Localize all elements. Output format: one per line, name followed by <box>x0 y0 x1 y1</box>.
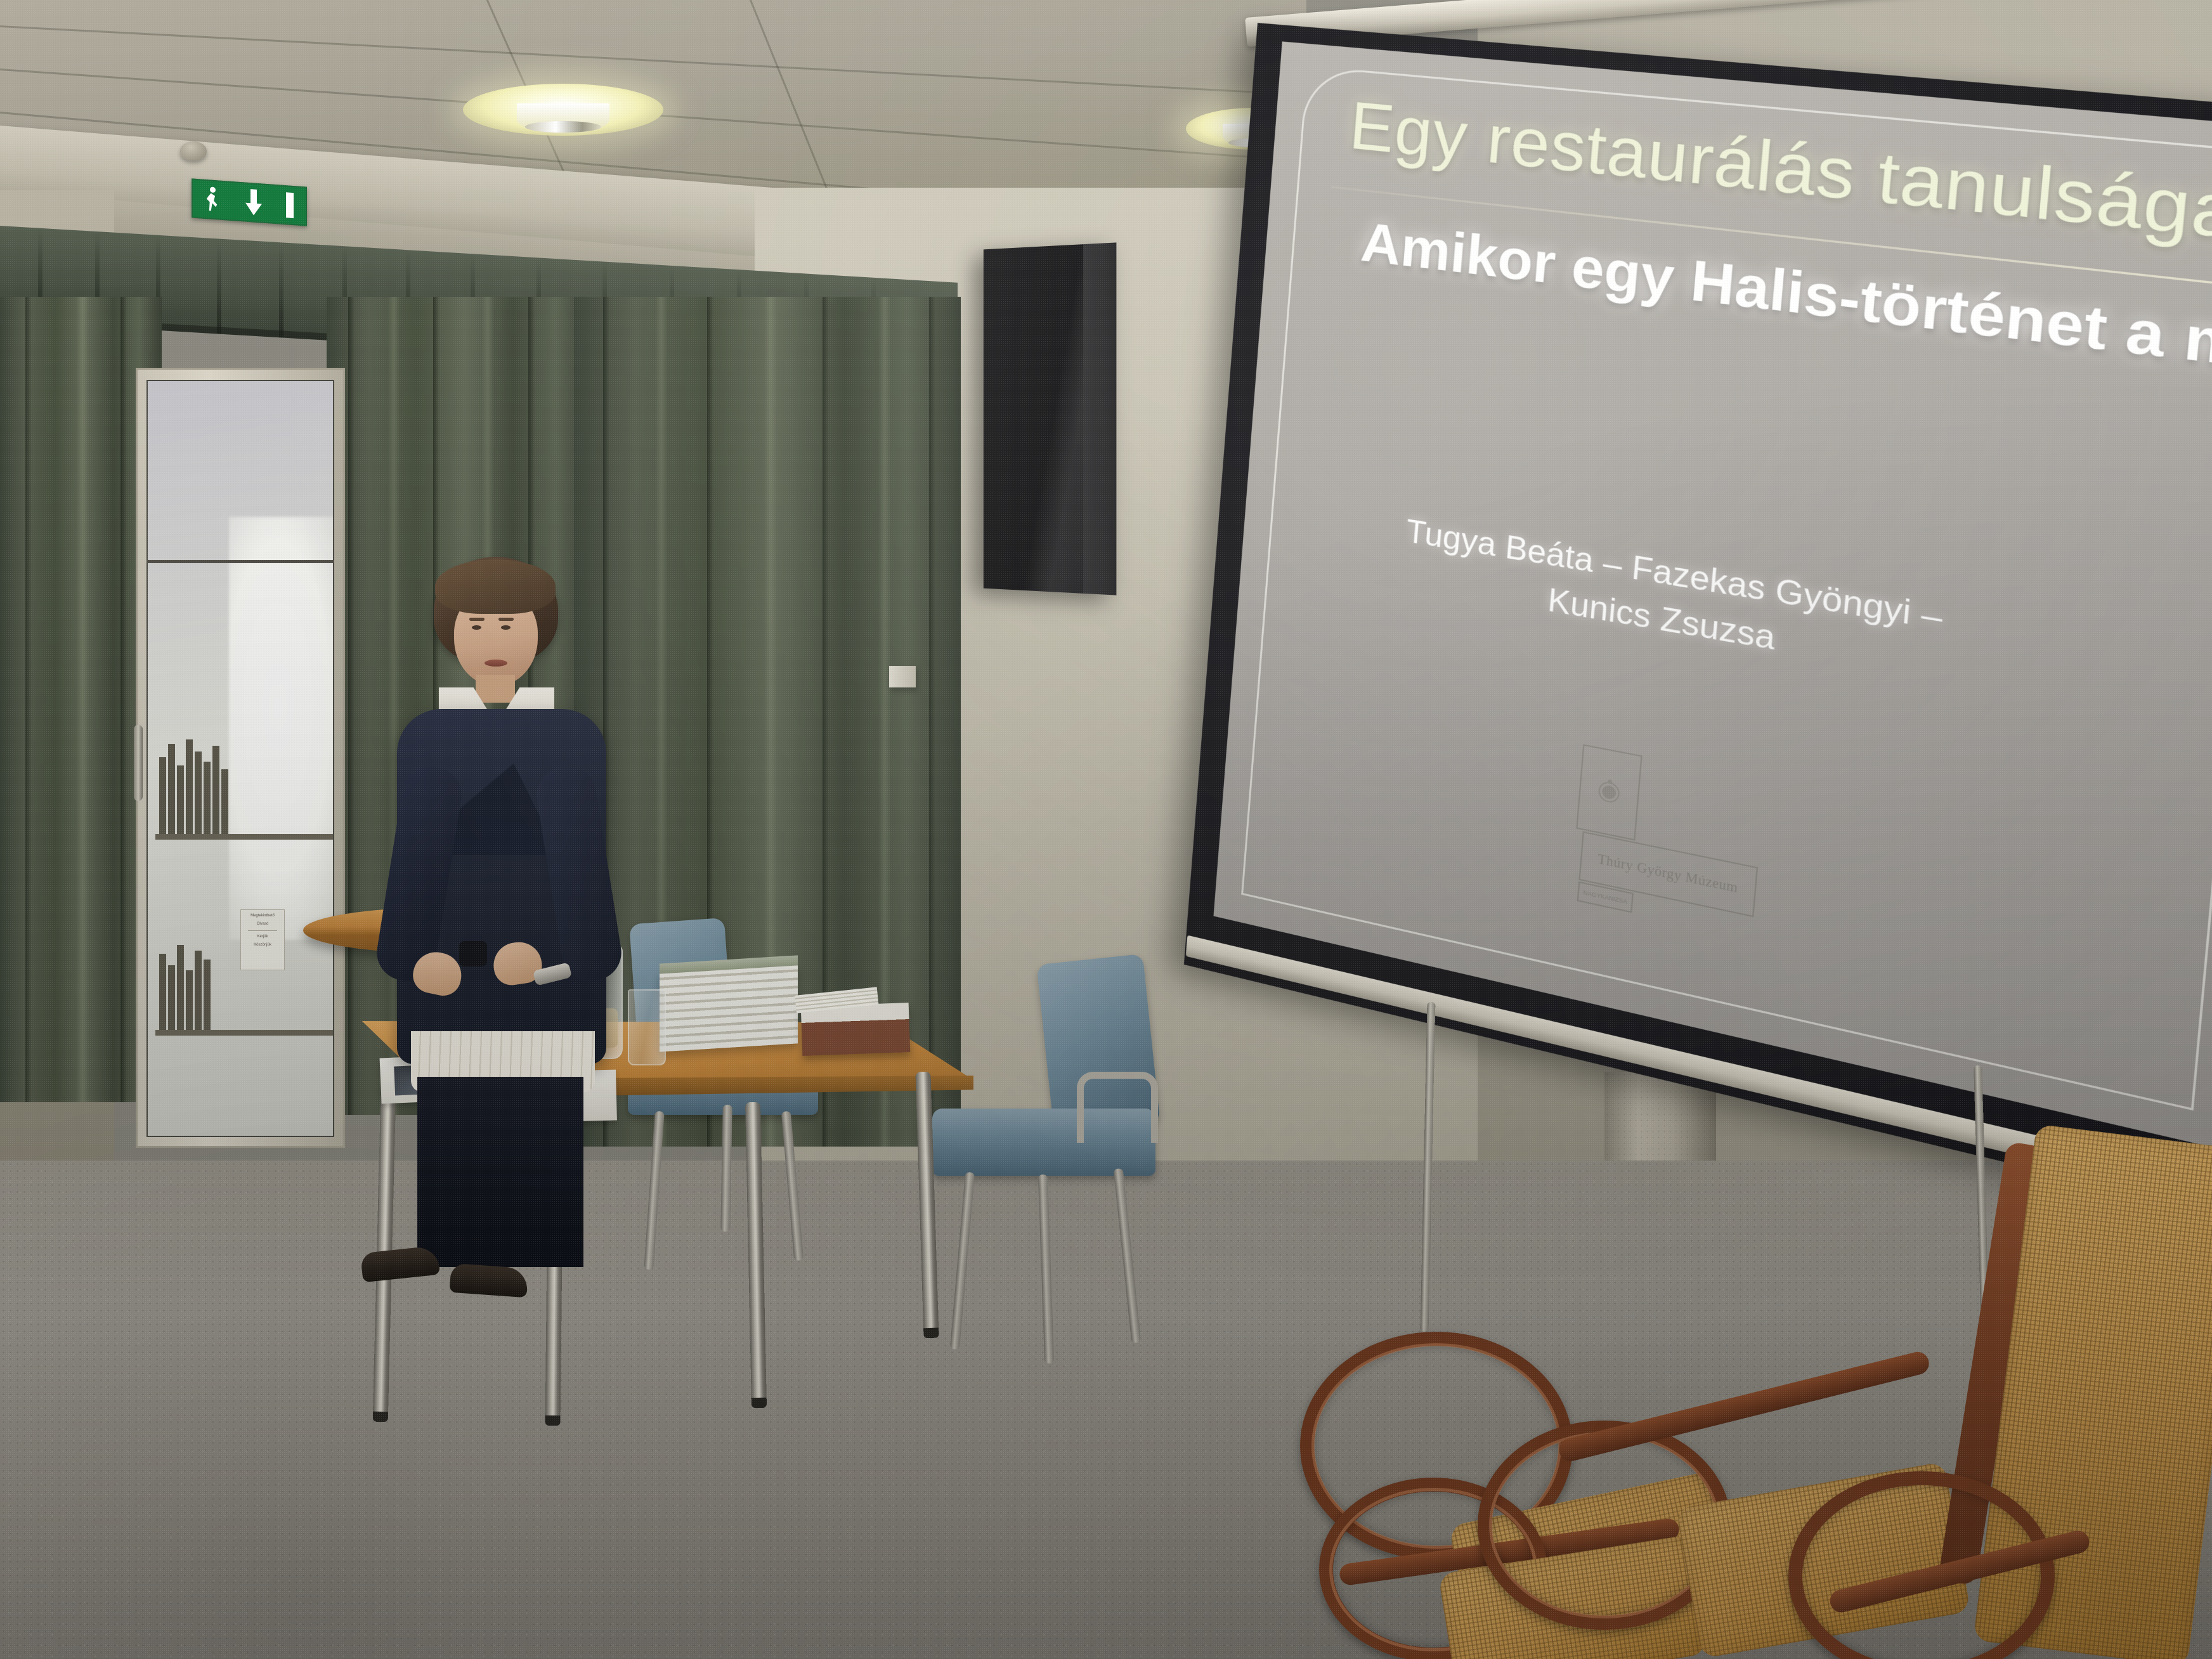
old-bound-book <box>801 1003 911 1056</box>
presenter <box>359 557 632 1273</box>
notice-line: Megtekinthető <box>250 914 275 918</box>
fringe <box>435 559 556 614</box>
projection-screen-assembly: Egy restaurálás tanulságai Amikor egy Ha… <box>1240 0 2212 1199</box>
notice-line: Olvasó <box>257 922 269 927</box>
door-handle[interactable] <box>134 725 143 801</box>
trousers <box>417 1077 583 1267</box>
running-person-icon <box>205 186 221 213</box>
wall-loudspeaker <box>984 242 1117 595</box>
emergency-exit-sign <box>192 178 307 226</box>
held-clicker <box>459 941 487 966</box>
bentwood-chair[interactable] <box>1877 1142 2212 1659</box>
drinking-glass <box>628 989 666 1065</box>
museum-crest-icon <box>1576 745 1642 841</box>
door-bar-icon <box>286 192 294 218</box>
smoke-detector-icon <box>180 141 207 160</box>
ceiling-downlight <box>463 84 663 136</box>
library-notice-sign: Megtekinthető Olvasó Kérjük Köszönjük <box>240 909 285 970</box>
stack-of-booklets <box>660 963 798 1051</box>
glass-door-to-library[interactable]: Megtekinthető Olvasó Kérjük Köszönjük <box>136 368 345 1148</box>
door-glass-panel: Megtekinthető Olvasó Kérjük Köszönjük <box>146 380 334 1137</box>
wall-fixture <box>889 666 916 687</box>
notice-line: Köszönjük <box>254 943 271 947</box>
neck <box>476 675 515 703</box>
photograph-scene: Megtekinthető Olvasó Kérjük Köszönjük Eg… <box>0 0 2212 1659</box>
notice-line: Kérjük <box>257 935 268 939</box>
projection-screen: Egy restaurálás tanulságai Amikor egy Ha… <box>1184 23 2212 1220</box>
down-arrow-icon <box>245 188 263 216</box>
shoe <box>450 1263 529 1298</box>
library-daylight <box>229 517 334 939</box>
